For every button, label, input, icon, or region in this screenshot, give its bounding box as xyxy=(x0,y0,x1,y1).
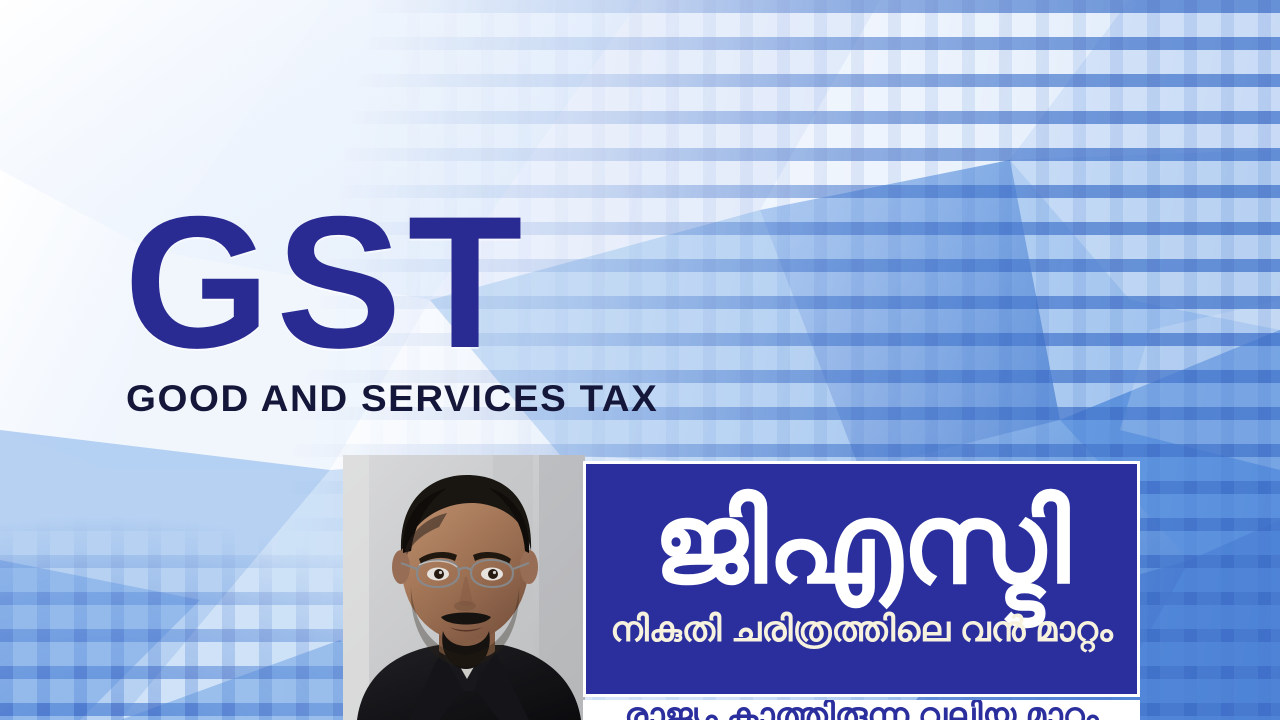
malayalam-headline-panel: ജിഎസ്ടി നികുതി ചരിത്രത്തിലെ വൻ മാറ്റം xyxy=(583,461,1140,697)
malayalam-subtitle: നികുതി ചരിത്രത്തിലെ വൻ മാറ്റം xyxy=(586,604,1137,657)
malayalam-cutoff-line: രാജ്യം കാത്തിരുന്ന വലിയ മാറ്റം xyxy=(583,700,1140,720)
malayalam-cutoff-strip: രാജ്യം കാത്തിരുന്ന വലിയ മാറ്റം xyxy=(583,700,1140,720)
portrait-illustration xyxy=(343,455,585,720)
poster-canvas: GST GOOD AND SERVICES TAX xyxy=(0,0,1280,720)
gst-expansion-text: GOOD AND SERVICES TAX xyxy=(126,378,686,420)
malayalam-title: ജിഎസ്ടി xyxy=(586,464,1137,618)
gst-wordmark: GST xyxy=(124,192,664,372)
portrait-photo xyxy=(343,455,585,720)
gst-logo-block: GST GOOD AND SERVICES TAX xyxy=(124,192,664,420)
